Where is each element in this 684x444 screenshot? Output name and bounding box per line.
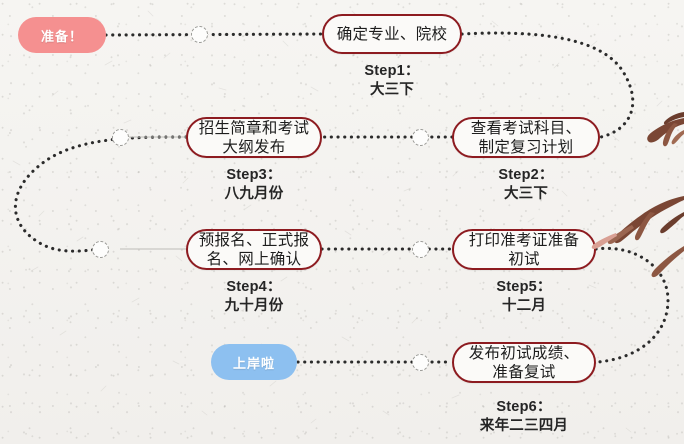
path-node-2 (112, 129, 129, 146)
step2-caption-line-1: Step2： (452, 166, 600, 185)
step3-caption: Step3： 八九月份 (186, 166, 322, 204)
step1-caption: Step1： 大三下 (322, 62, 462, 100)
step4-box-line-2: 名、网上确认 (201, 250, 308, 269)
step6-caption-line-2: 来年二三四月 (452, 417, 596, 436)
step2-box[interactable]: 查看考试科目、 制定复习计划 (452, 117, 600, 158)
step6-box-line-2: 准备复试 (486, 363, 561, 382)
step6-box[interactable]: 发布初试成绩、 准备复试 (452, 342, 596, 383)
step5-box-line-2: 初试 (502, 250, 546, 269)
step4-caption: Step4： 九十月份 (186, 278, 322, 316)
step4-caption-line-2: 九十月份 (186, 297, 322, 316)
path-node-3 (412, 129, 429, 146)
path-node-1 (191, 26, 208, 43)
step5-box[interactable]: 打印准考证准备 初试 (452, 229, 596, 270)
step3-box[interactable]: 招生简章和考试 大纲发布 (186, 117, 322, 158)
step3-box-line-1: 招生简章和考试 (193, 119, 316, 138)
step5-caption-line-1: Step5： (452, 278, 596, 297)
step3-box-line-2: 大纲发布 (216, 138, 291, 157)
path-node-5 (412, 241, 429, 258)
step1-caption-line-2: 大三下 (322, 81, 462, 100)
end-pill[interactable]: 上岸啦 (211, 344, 297, 380)
step4-box[interactable]: 预报名、正式报 名、网上确认 (186, 229, 322, 270)
step2-caption: Step2： 大三下 (452, 166, 600, 204)
step6-caption: Step6： 来年二三四月 (452, 398, 596, 436)
infographic-canvas: 准备！ 上岸啦 确定专业、院校 Step1： 大三下 查看考试科目、 制定复习计… (0, 0, 684, 444)
path-node-4 (92, 241, 109, 258)
step1-caption-line-1: Step1： (322, 62, 462, 81)
path-node-6 (412, 354, 429, 371)
step2-box-line-2: 制定复习计划 (473, 138, 580, 157)
step4-box-line-1: 预报名、正式报 (193, 231, 316, 250)
step5-caption: Step5： 十二月 (452, 278, 596, 316)
step2-caption-line-2: 大三下 (452, 185, 600, 204)
step3-caption-line-2: 八九月份 (186, 185, 322, 204)
step2-box-line-1: 查看考试科目、 (465, 119, 588, 138)
step4-caption-line-1: Step4： (186, 278, 322, 297)
step3-caption-line-1: Step3： (186, 166, 322, 185)
step6-box-line-1: 发布初试成绩、 (463, 344, 586, 363)
start-pill[interactable]: 准备！ (18, 17, 106, 53)
end-pill-label: 上岸啦 (233, 353, 275, 372)
step1-box-line-1: 确定专业、院校 (331, 25, 454, 44)
step6-caption-line-1: Step6： (452, 398, 596, 417)
step5-box-line-1: 打印准考证准备 (463, 231, 586, 250)
start-pill-label: 准备！ (41, 26, 83, 45)
step1-box[interactable]: 确定专业、院校 (322, 14, 462, 54)
step5-caption-line-2: 十二月 (452, 297, 596, 316)
